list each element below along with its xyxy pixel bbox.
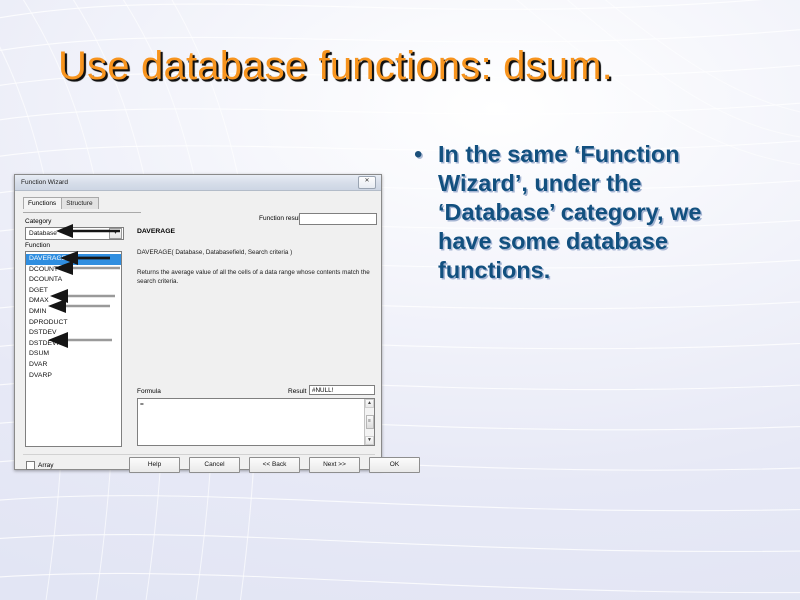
function-wizard-dialog[interactable]: Function Wizard ✕ Functions Structure Ca… [14,174,382,470]
dialog-title: Function Wizard [21,179,358,186]
list-item-dproduct[interactable]: DPRODUCT [26,318,121,329]
help-function-signature: DAVERAGE( Database, Databasefield, Searc… [137,249,292,256]
result-label: Result [288,388,306,395]
back-button[interactable]: << Back [249,457,300,473]
dialog-body: Functions Structure Category Database ▾ … [15,191,381,472]
formula-input-value[interactable]: = [138,399,364,445]
category-label: Category [25,218,51,225]
footer-divider [23,454,375,455]
list-item-daverage[interactable]: DAVERAGE [26,254,121,265]
formula-scrollbar[interactable]: ▲ ≡ ▼ [364,399,374,445]
dialog-button-row: Help Cancel << Back Next >> OK [129,457,420,473]
scroll-down-icon[interactable]: ▼ [365,436,374,445]
checkbox-box-icon[interactable] [26,461,35,470]
list-item-dstdevp[interactable]: DSTDEVP [26,339,121,350]
list-item-dvar[interactable]: DVAR [26,360,121,371]
result-value-field[interactable]: #NULL! [309,385,375,395]
dialog-tabs: Functions Structure [23,197,98,209]
list-item-dsum[interactable]: DSUM [26,349,121,360]
scroll-up-icon[interactable]: ▲ [365,399,374,408]
formula-input[interactable]: = ▲ ≡ ▼ [137,398,375,446]
bullet-text: In the same ‘Function Wizard’, under the… [438,140,750,285]
ok-button[interactable]: OK [369,457,420,473]
chevron-down-icon[interactable]: ▾ [109,228,122,239]
scrollbar-thumb[interactable]: ≡ [366,415,374,429]
help-function-description: Returns the average value of all the cel… [137,269,375,286]
function-result-label: Function result [259,215,302,222]
array-checkbox-label: Array [38,462,54,469]
formula-label: Formula [137,388,161,395]
category-dropdown[interactable]: Database ▾ [25,227,124,240]
slide-body: • In the same ‘Function Wizard’, under t… [410,140,750,285]
help-button[interactable]: Help [129,457,180,473]
category-selected-value: Database [26,230,109,237]
list-item-dvarp[interactable]: DVARP [26,371,121,382]
cancel-button[interactable]: Cancel [189,457,240,473]
list-item-dmin[interactable]: DMIN [26,307,121,318]
list-item-dget[interactable]: DGET [26,286,121,297]
close-icon[interactable]: ✕ [358,176,376,189]
list-item-dstdev[interactable]: DSTDEV [26,328,121,339]
tab-functions[interactable]: Functions [23,197,62,209]
list-item-dcount[interactable]: DCOUNT [26,265,121,276]
array-checkbox[interactable]: Array [26,461,54,470]
tab-structure[interactable]: Structure [61,197,98,209]
function-result-field[interactable] [299,213,377,225]
bullet-item: • In the same ‘Function Wizard’, under t… [410,140,750,285]
dialog-titlebar[interactable]: Function Wizard ✕ [15,175,381,191]
list-item-dmax[interactable]: DMAX [26,296,121,307]
help-function-name: DAVERAGE [137,228,175,235]
function-listbox[interactable]: DAVERAGE DCOUNT DCOUNTA DGET DMAX DMIN D… [25,251,122,447]
slide-title: Use database functions: dsum. [58,44,758,89]
tab-underline [23,212,141,213]
bullet-marker-icon: • [410,140,438,170]
function-label: Function [25,242,50,249]
next-button[interactable]: Next >> [309,457,360,473]
list-item-dcounta[interactable]: DCOUNTA [26,275,121,286]
